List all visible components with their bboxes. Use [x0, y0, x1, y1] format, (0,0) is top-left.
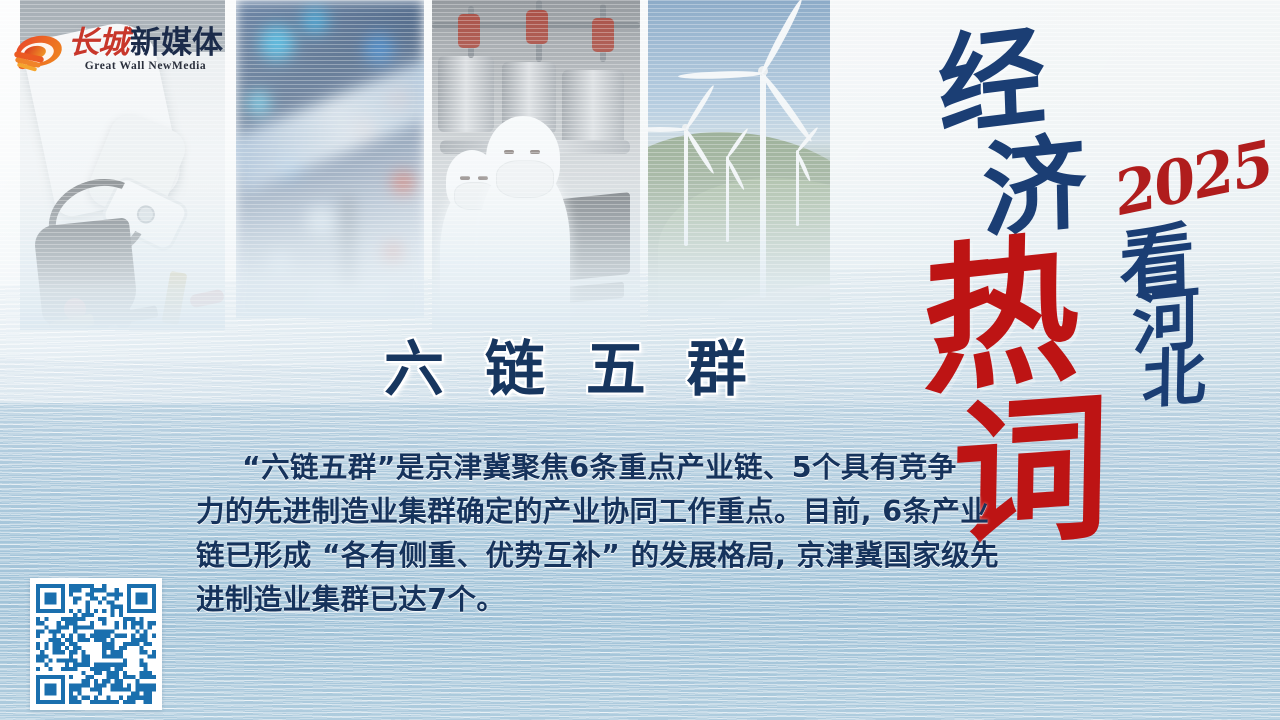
- logo-name-cn-red: 长城: [68, 28, 128, 59]
- page-title: 六 链 五 群: [384, 340, 757, 400]
- calli-char-jing: 经: [937, 27, 1048, 138]
- calli-char-re: 热: [922, 237, 1079, 396]
- qr-code-canvas: [36, 584, 156, 704]
- body-line-4: 进制造业集群已达7个。: [196, 578, 964, 622]
- body-line-1: “六链五群”是京津冀聚焦6条重点产业链、5个具有竞争: [196, 446, 964, 490]
- calli-year: 2025: [1110, 136, 1277, 222]
- qr-code[interactable]: [30, 578, 162, 710]
- poster-root: 长城 新媒体 Great Wall NewMedia 经 济 2025 看 河 …: [0, 0, 1280, 720]
- body-line-2: 力的先进制造业集群确定的产业协同工作重点。目前, 6条产业: [196, 490, 964, 534]
- calli-char-bei: 北: [1142, 347, 1207, 410]
- electronics-bokeh-photo: [236, 0, 424, 318]
- logo-name-cn-navy: 新媒体: [130, 28, 223, 59]
- swoosh-icon: [14, 30, 64, 72]
- wind-turbines-photo: [648, 0, 830, 318]
- body-line-3: 链已形成 “各有侧重、优势互补” 的发展格局, 京津冀国家级先: [196, 534, 964, 578]
- cleanroom-workers-photo: [432, 0, 640, 330]
- body-paragraph: “六链五群”是京津冀聚焦6条重点产业链、5个具有竞争 力的先进制造业集群确定的产…: [196, 446, 964, 622]
- logo-name-en: Great Wall NewMedia: [68, 60, 223, 72]
- brand-logo[interactable]: 长城 新媒体 Great Wall NewMedia: [14, 30, 223, 74]
